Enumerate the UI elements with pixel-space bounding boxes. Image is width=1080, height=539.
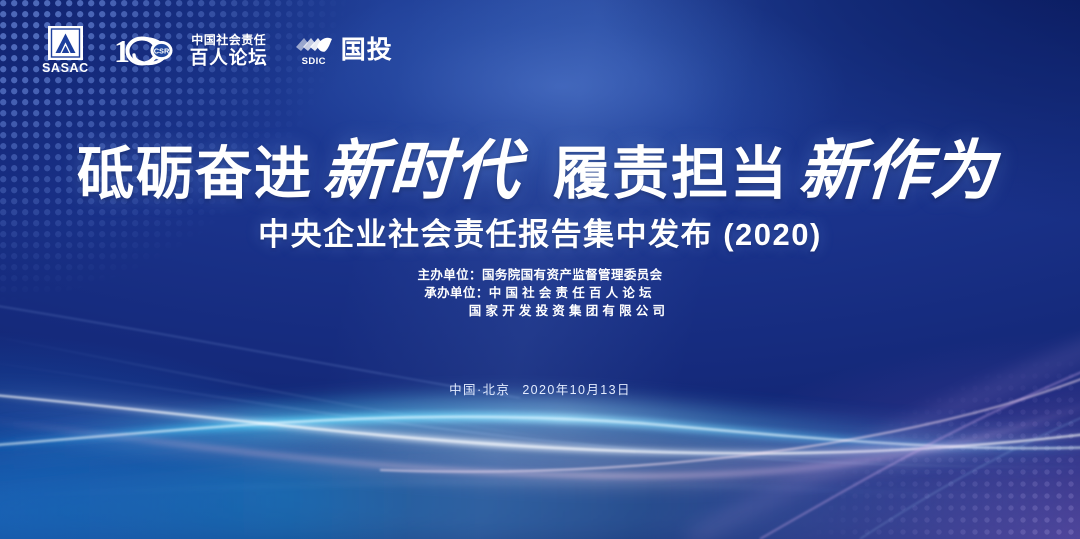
sdic-wave-icon <box>294 34 334 54</box>
poster-location: 中国·北京 <box>449 383 510 397</box>
headline-part-1: 砥砺奋进 <box>77 128 313 210</box>
headline-part-3: 履责担当 <box>553 128 789 210</box>
forum-name-line2: 百人论坛 <box>190 49 268 68</box>
headline-part-4: 新作为 <box>797 118 1000 212</box>
organizer-label-co-host: 承办单位： <box>424 286 489 300</box>
sasac-wordmark: SASAC <box>42 62 89 75</box>
organizer-row-co-host-secondary: 国家开发投资集团有限公司 <box>0 302 1080 320</box>
sdic-chinese-name: 国投 <box>341 38 393 63</box>
sdic-wordmark: SDIC <box>302 57 326 67</box>
forum-name-line1: 中国社会责任 <box>191 34 266 46</box>
organizer-row-co-host: 承办单位：中国社会责任百人论坛 <box>0 284 1080 302</box>
poster-headline: 砥砺奋进新时代履责担当新作为 <box>0 118 1080 212</box>
logo-bar: SASAC 1 CSR 中国社会责任 百人论坛 <box>42 26 393 75</box>
headline-part-2: 新时代 <box>321 118 524 212</box>
sasac-triangle-icon <box>48 26 83 60</box>
logo-csr-100-forum: 1 CSR 中国社会责任 百人论坛 <box>115 31 268 69</box>
poster-subtitle: 中央企业社会责任报告集中发布 (2020) <box>0 209 1080 254</box>
organizer-row-host: 主办单位：国务院国有资产监督管理委员会 <box>0 266 1080 284</box>
poster-date: 2020年10月13日 <box>522 383 631 397</box>
hundred-csr-badge-icon: 1 CSR <box>115 31 181 69</box>
logo-sdic: SDIC 国投 <box>294 34 393 67</box>
location-date-bar: 中国·北京2020年10月13日 <box>0 379 1080 398</box>
forum-chinese-name: 中国社会责任 百人论坛 <box>190 34 268 68</box>
organizer-value-host: 国务院国有资产监督管理委员会 <box>482 268 663 282</box>
sasac-mark-icon <box>48 26 83 60</box>
organizer-value-co-host: 中国社会责任百人论坛 <box>489 286 656 300</box>
organizer-block: 主办单位：国务院国有资产监督管理委员会 承办单位：中国社会责任百人论坛 国家开发… <box>0 266 1080 320</box>
logo-sasac: SASAC <box>42 26 89 75</box>
organizer-label-host: 主办单位： <box>417 268 482 282</box>
poster-canvas: SASAC 1 CSR 中国社会责任 百人论坛 <box>0 0 1080 539</box>
svg-text:CSR: CSR <box>153 47 169 56</box>
organizer-value-co-host-secondary: 国家开发投资集团有限公司 <box>469 304 669 318</box>
sdic-mark-group: SDIC <box>294 34 334 67</box>
